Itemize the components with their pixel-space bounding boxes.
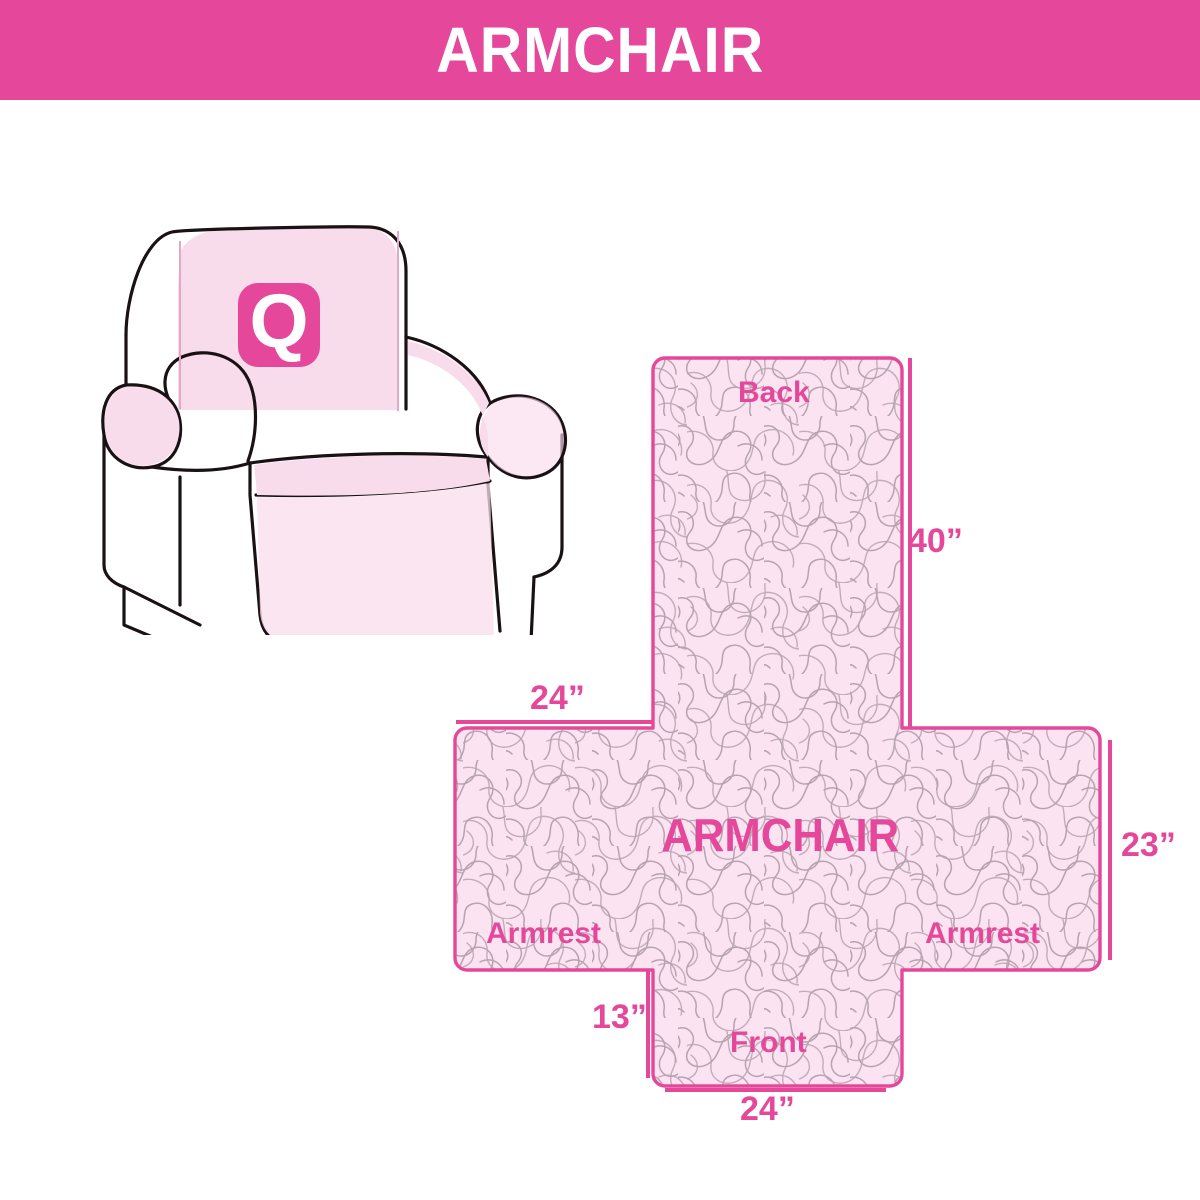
dimension-label-armrest-width: 24” (530, 681, 585, 715)
dimension-label-back-height: 40” (908, 524, 963, 558)
cross-body (420, 330, 1200, 1130)
slipcover-cross-diagram (420, 330, 1200, 1130)
panel-label-armrest-left: Armrest (486, 919, 601, 949)
panel-label-armrest-right: Armrest (925, 919, 1040, 949)
panel-label-back: Back (738, 378, 810, 408)
brand-logo-letter: Q (249, 279, 308, 364)
slipcover-size-chart: ARMCHAIR (0, 0, 1200, 1200)
cross-diagram-svg (420, 330, 1200, 1130)
dimension-label-front-height: 13” (592, 1000, 647, 1034)
chair-left-arm-top (152, 463, 250, 470)
header-bar: ARMCHAIR (0, 0, 1200, 100)
dimension-label-front-width: 24” (740, 1092, 795, 1126)
dimension-label-seat-height: 23” (1121, 828, 1176, 862)
diagram-center-label: ARMCHAIR (661, 812, 899, 858)
panel-label-front: Front (730, 1028, 807, 1058)
brand-logo-badge: Q (238, 279, 320, 367)
page-title: ARMCHAIR (436, 18, 764, 82)
